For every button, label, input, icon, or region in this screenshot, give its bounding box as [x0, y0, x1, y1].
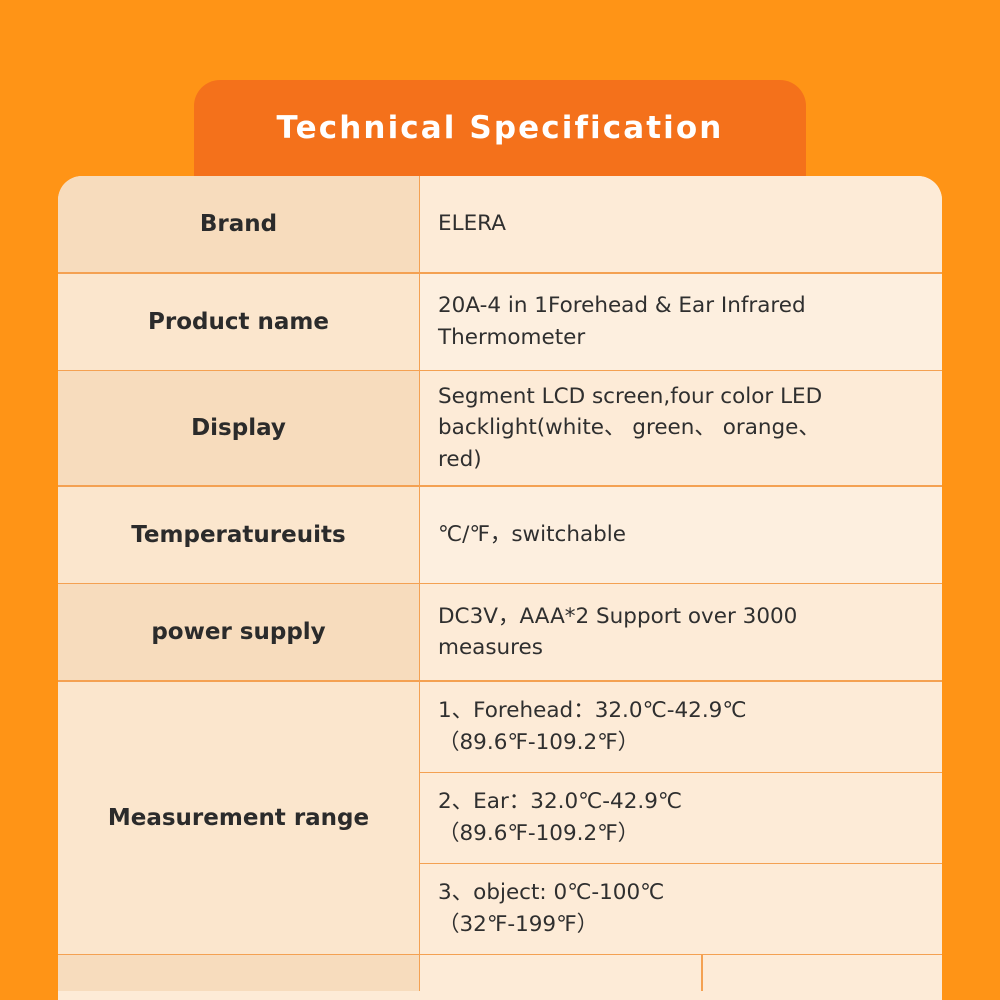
specification-table: Brand ELERA Product name 20A-4 in 1Foreh…: [58, 176, 942, 1000]
measurement-item-ear: 2、Ear：32.0℃-42.9℃ （89.6℉-109.2℉）: [420, 772, 942, 863]
table-row-measurement-range: Measurement range 1、Forehead：32.0℃-42.9℃…: [58, 682, 942, 954]
measurement-item-forehead: 1、Forehead：32.0℃-42.9℃ （89.6℉-109.2℉）: [420, 682, 942, 772]
table-row: Temperatureuits ℃/℉，switchable: [58, 487, 942, 583]
page-title: Technical Specification: [277, 110, 724, 146]
measurement-item-object: 3、object: 0℃-100℃ （32℉-199℉）: [420, 863, 942, 954]
row-label: Display: [58, 371, 419, 485]
column-split-divider: [701, 955, 703, 991]
table-row: power supply DC3V，AAA*2 Support over 300…: [58, 584, 942, 680]
row-label: Measurement range: [58, 682, 419, 954]
row-value: DC3V，AAA*2 Support over 3000 measures: [419, 584, 942, 680]
table-row: Brand ELERA: [58, 176, 942, 272]
row-label: Brand: [58, 176, 419, 272]
header-banner: Technical Specification: [194, 80, 806, 176]
specification-page: Technical Specification Brand ELERA Prod…: [0, 0, 1000, 1000]
row-label: Temperatureuits: [58, 487, 419, 583]
row-value: 20A-4 in 1Forehead & Ear Infrared Thermo…: [419, 274, 942, 370]
row-label: [58, 955, 419, 991]
table-row: Display Segment LCD screen,four color LE…: [58, 371, 942, 485]
row-value: Segment LCD screen,four color LED backli…: [419, 371, 942, 485]
row-label: Product name: [58, 274, 419, 370]
table-row-partial: [58, 955, 942, 991]
row-value: ELERA: [419, 176, 942, 272]
row-value: [419, 955, 942, 991]
table-row: Product name 20A-4 in 1Forehead & Ear In…: [58, 274, 942, 370]
row-label: power supply: [58, 584, 419, 680]
measurement-range-values: 1、Forehead：32.0℃-42.9℃ （89.6℉-109.2℉） 2、…: [419, 682, 942, 954]
row-value: ℃/℉，switchable: [419, 487, 942, 583]
